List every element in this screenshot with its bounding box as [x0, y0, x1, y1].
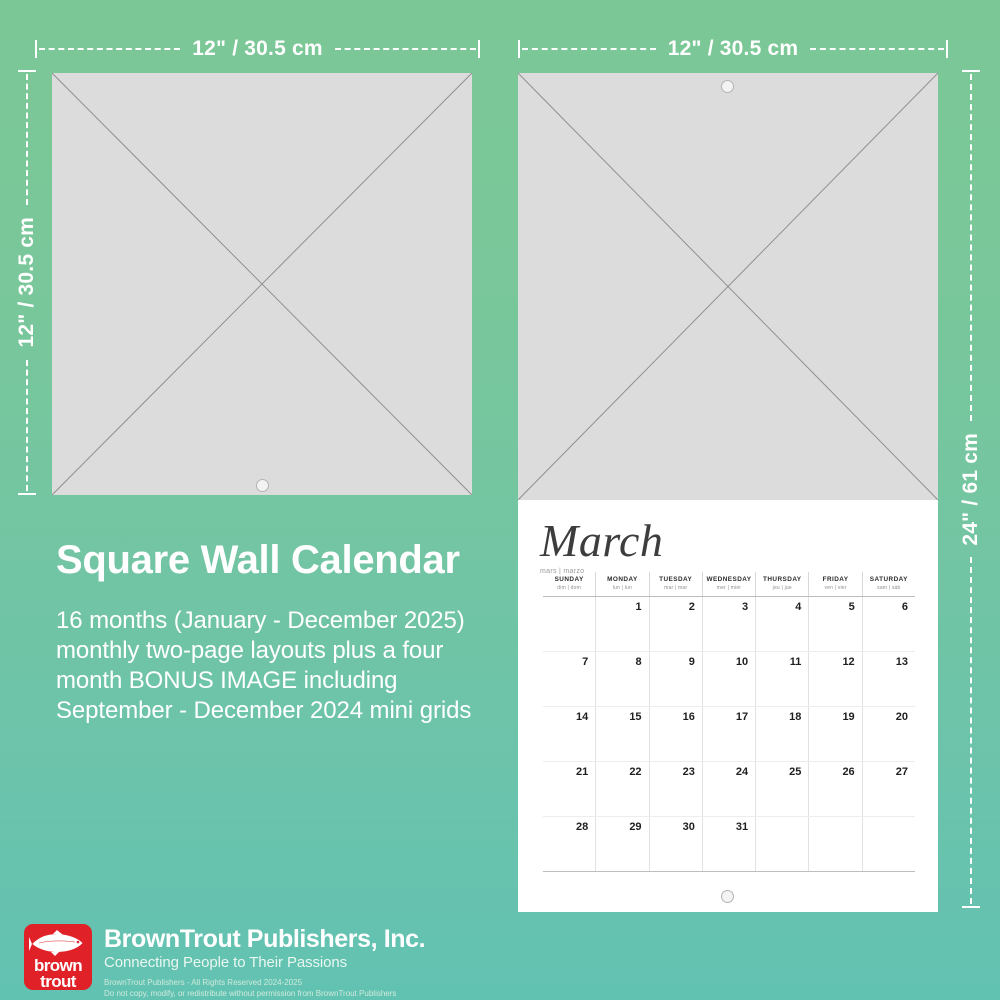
dimension-cap-right: [478, 40, 480, 58]
dimension-dash: [335, 48, 476, 50]
calendar-day-header-name: SUNDAY: [543, 576, 595, 583]
calendar-week-row: 78910111213: [543, 651, 915, 706]
logo-word-trout: trout: [24, 973, 92, 990]
calendar-day-cell[interactable]: [862, 817, 915, 871]
calendar-grid: SUNDAYdim | domMONDAYlun | lunTUESDAYmar…: [543, 572, 915, 877]
placeholder-image-left: [52, 73, 472, 495]
calendar-day-header-name: TUESDAY: [650, 576, 702, 583]
calendar-day-header-name: THURSDAY: [756, 576, 808, 583]
calendar-day-header-translations: ven | vier: [809, 585, 861, 591]
dimension-top-right: 12" / 30.5 cm: [518, 36, 948, 62]
dimension-top-right-label: 12" / 30.5 cm: [658, 37, 808, 61]
dimension-cap-top: [18, 70, 36, 72]
dimension-cap-left: [35, 40, 37, 58]
calendar-day-header-name: FRIDAY: [809, 576, 861, 583]
dimension-dash: [26, 74, 28, 205]
dimension-left-side: 12" / 30.5 cm: [14, 70, 40, 495]
calendar-day-cell[interactable]: 10: [702, 652, 755, 706]
calendar-day-cell[interactable]: 20: [862, 707, 915, 761]
calendar-day-cell[interactable]: 14: [543, 707, 595, 761]
calendar-day-cell[interactable]: [808, 817, 861, 871]
dimension-right-side-label: 24" / 61 cm: [959, 423, 983, 556]
dimension-dash: [970, 557, 972, 904]
dimension-right-side: 24" / 61 cm: [958, 70, 984, 908]
calendar-day-cell[interactable]: 24: [702, 762, 755, 816]
calendar-day-cell[interactable]: 28: [543, 817, 595, 871]
hole-punch-left-panel: [256, 479, 269, 492]
calendar-day-cell[interactable]: 25: [755, 762, 808, 816]
product-description-line: month BONUS IMAGE including: [56, 666, 526, 696]
dimension-cap-left: [518, 40, 520, 58]
dimension-dash: [26, 360, 28, 491]
calendar-week-row: 21222324252627: [543, 761, 915, 816]
page-title: Square Wall Calendar: [56, 540, 460, 580]
calendar-month-name: March: [540, 518, 663, 564]
calendar-day-cell[interactable]: 22: [595, 762, 648, 816]
trout-fish-icon: [29, 930, 87, 956]
legal-notice: BrownTrout Publishers - All Rights Reser…: [104, 978, 425, 1000]
calendar-day-cell[interactable]: 1: [595, 597, 648, 651]
calendar-day-cell[interactable]: 18: [755, 707, 808, 761]
calendar-day-header-name: SATURDAY: [863, 576, 915, 583]
calendar-month-heading: March mars | marzo: [540, 518, 663, 575]
calendar-week-row: 123456: [543, 597, 915, 651]
calendar-day-header-translations: dim | dom: [543, 585, 595, 591]
footer: brown trout BrownTrout Publishers, Inc. …: [0, 914, 1000, 1000]
calendar-day-header: TUESDAYmar | mar: [649, 572, 702, 596]
calendar-day-cell[interactable]: 29: [595, 817, 648, 871]
calendar-day-cell[interactable]: [543, 597, 595, 651]
calendar-day-cell[interactable]: 27: [862, 762, 915, 816]
calendar-day-header-translations: mer | miér: [703, 585, 755, 591]
hole-punch-right-panel-top: [721, 80, 734, 93]
legal-line-1: BrownTrout Publishers - All Rights Reser…: [104, 978, 425, 989]
legal-line-2: Do not copy, modify, or redistribute wit…: [104, 989, 425, 1000]
calendar-day-cell[interactable]: 11: [755, 652, 808, 706]
calendar-day-header-name: MONDAY: [596, 576, 648, 583]
product-description: 16 months (January - December 2025)month…: [56, 606, 526, 726]
calendar-day-cell[interactable]: 6: [862, 597, 915, 651]
brand-block: BrownTrout Publishers, Inc. Connecting P…: [104, 926, 425, 1000]
dimension-cap-bottom: [18, 493, 36, 495]
calendar-day-header-translations: jeu | jue: [756, 585, 808, 591]
dimension-cap-top: [962, 70, 980, 72]
calendar-day-header: SATURDAYsam | sáb: [862, 572, 915, 596]
calendar-day-cell[interactable]: 12: [808, 652, 861, 706]
calendar-day-header-translations: mar | mar: [650, 585, 702, 591]
calendar-day-cell[interactable]: 4: [755, 597, 808, 651]
calendar-day-cell[interactable]: 17: [702, 707, 755, 761]
calendar-day-header-row: SUNDAYdim | domMONDAYlun | lunTUESDAYmar…: [543, 572, 915, 597]
dimension-cap-bottom: [962, 906, 980, 908]
placeholder-x-icon: [518, 73, 938, 500]
browntrout-logo: brown trout: [24, 924, 92, 990]
dimension-dash: [39, 48, 180, 50]
placeholder-x-icon: [52, 73, 472, 495]
product-description-line: September - December 2024 mini grids: [56, 696, 526, 726]
calendar-day-cell[interactable]: 13: [862, 652, 915, 706]
hole-punch-calendar-bottom: [721, 890, 734, 903]
calendar-day-cell[interactable]: 3: [702, 597, 755, 651]
calendar-day-cell[interactable]: 19: [808, 707, 861, 761]
calendar-day-cell[interactable]: 16: [649, 707, 702, 761]
calendar-day-cell[interactable]: 15: [595, 707, 648, 761]
calendar-day-cell[interactable]: 30: [649, 817, 702, 871]
company-tagline: Connecting People to Their Passions: [104, 954, 425, 971]
calendar-day-header-name: WEDNESDAY: [703, 576, 755, 583]
placeholder-image-right: [518, 73, 938, 500]
calendar-day-header: WEDNESDAYmer | miér: [702, 572, 755, 596]
dimension-top-left-label: 12" / 30.5 cm: [182, 37, 332, 61]
dimension-cap-right: [946, 40, 948, 58]
dimension-dash: [810, 48, 944, 50]
product-description-line: monthly two-page layouts plus a four: [56, 636, 526, 666]
calendar-day-cell[interactable]: 7: [543, 652, 595, 706]
calendar-week-row: 28293031: [543, 816, 915, 871]
calendar-day-cell[interactable]: 26: [808, 762, 861, 816]
calendar-day-cell[interactable]: 2: [649, 597, 702, 651]
dimension-top-left: 12" / 30.5 cm: [35, 36, 480, 62]
calendar-day-cell[interactable]: 21: [543, 762, 595, 816]
calendar-day-header: MONDAYlun | lun: [595, 572, 648, 596]
calendar-day-cell[interactable]: [755, 817, 808, 871]
calendar-day-header-translations: sam | sáb: [863, 585, 915, 591]
calendar-week-row: 14151617181920: [543, 706, 915, 761]
calendar-day-header-translations: lun | lun: [596, 585, 648, 591]
dimension-left-side-label: 12" / 30.5 cm: [15, 207, 39, 357]
dimension-dash: [522, 48, 656, 50]
calendar-day-cell[interactable]: 9: [649, 652, 702, 706]
company-name: BrownTrout Publishers, Inc.: [104, 926, 425, 953]
calendar-day-header: SUNDAYdim | dom: [543, 572, 595, 596]
calendar-week-rows: 1234567891011121314151617181920212223242…: [543, 597, 915, 872]
calendar-day-cell[interactable]: 23: [649, 762, 702, 816]
calendar-day-header: FRIDAYven | vier: [808, 572, 861, 596]
calendar-day-cell[interactable]: 5: [808, 597, 861, 651]
dimension-dash: [970, 74, 972, 421]
calendar-day-header: THURSDAYjeu | jue: [755, 572, 808, 596]
calendar-day-cell[interactable]: 8: [595, 652, 648, 706]
calendar-day-cell[interactable]: 31: [702, 817, 755, 871]
calendar-page: March mars | marzo SUNDAYdim | domMONDAY…: [518, 500, 938, 912]
product-description-line: 16 months (January - December 2025): [56, 606, 526, 636]
